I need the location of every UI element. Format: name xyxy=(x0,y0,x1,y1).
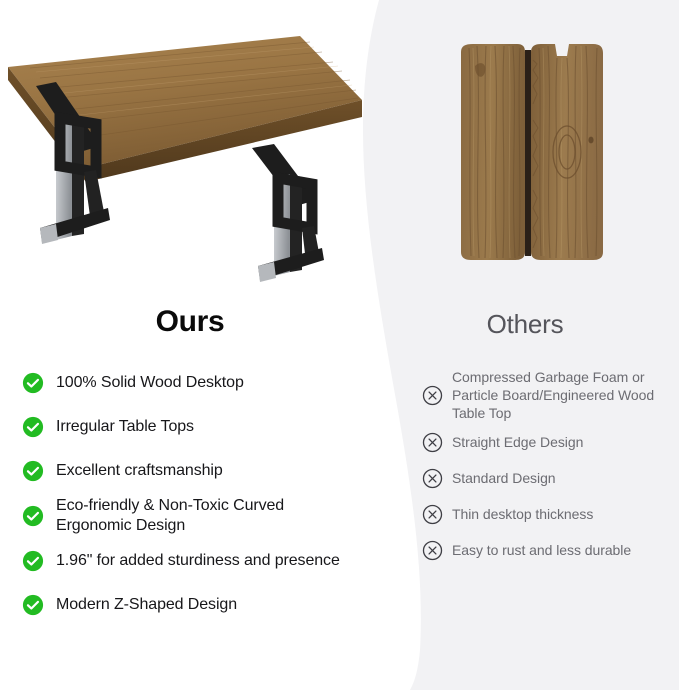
list-item-label: Irregular Table Tops xyxy=(56,417,362,437)
comparison-infographic: Ours 100% Solid Wood Desktop Irregular T… xyxy=(0,0,679,690)
ours-feature-list: 100% Solid Wood Desktop Irregular Table … xyxy=(22,364,362,630)
others-heading: Others xyxy=(400,309,650,340)
x-circle-icon xyxy=(422,432,443,453)
list-item: Standard Design xyxy=(422,462,672,498)
list-item-label: Easy to rust and less durable xyxy=(452,541,672,559)
list-item: Thin desktop thickness xyxy=(422,498,672,534)
x-circle-icon xyxy=(422,504,443,525)
list-item-label: Excellent craftsmanship xyxy=(56,461,362,481)
list-item: Compressed Garbage Foam or Particle Boar… xyxy=(422,368,672,426)
list-item: 1.96" for added sturdiness and presence xyxy=(22,542,362,586)
list-item-label: Eco-friendly & Non-Toxic Curved Ergonomi… xyxy=(56,496,362,536)
check-circle-icon xyxy=(22,594,44,616)
ours-heading: Ours xyxy=(0,305,380,339)
table-leg-right xyxy=(252,144,324,282)
x-circle-icon xyxy=(422,540,443,561)
check-circle-icon xyxy=(22,460,44,482)
list-item: Straight Edge Design xyxy=(422,426,672,462)
check-circle-icon xyxy=(22,550,44,572)
list-item: Excellent craftsmanship xyxy=(22,452,362,496)
list-item: Eco-friendly & Non-Toxic Curved Ergonomi… xyxy=(22,496,362,542)
list-item-label: 100% Solid Wood Desktop xyxy=(56,373,362,393)
list-item-label: Standard Design xyxy=(452,469,672,487)
check-circle-icon xyxy=(22,416,44,438)
check-circle-icon xyxy=(22,505,44,527)
list-item-label: Modern Z-Shaped Design xyxy=(56,595,362,615)
list-item-label: Compressed Garbage Foam or Particle Boar… xyxy=(452,368,672,422)
ours-column: Ours 100% Solid Wood Desktop Irregular T… xyxy=(0,0,380,690)
others-feature-list: Compressed Garbage Foam or Particle Boar… xyxy=(422,368,672,570)
list-item-label: Straight Edge Design xyxy=(452,433,672,451)
list-item: Easy to rust and less durable xyxy=(422,534,672,570)
weathered-wood-planks-image xyxy=(455,30,615,270)
list-item-label: 1.96" for added sturdiness and presence xyxy=(56,551,362,571)
list-item: Modern Z-Shaped Design xyxy=(22,586,362,630)
x-circle-icon xyxy=(422,385,443,406)
solid-wood-table-image xyxy=(0,22,370,284)
x-circle-icon xyxy=(422,468,443,489)
check-circle-icon xyxy=(22,372,44,394)
list-item: Irregular Table Tops xyxy=(22,408,362,452)
list-item-label: Thin desktop thickness xyxy=(452,505,672,523)
list-item: 100% Solid Wood Desktop xyxy=(22,364,362,408)
